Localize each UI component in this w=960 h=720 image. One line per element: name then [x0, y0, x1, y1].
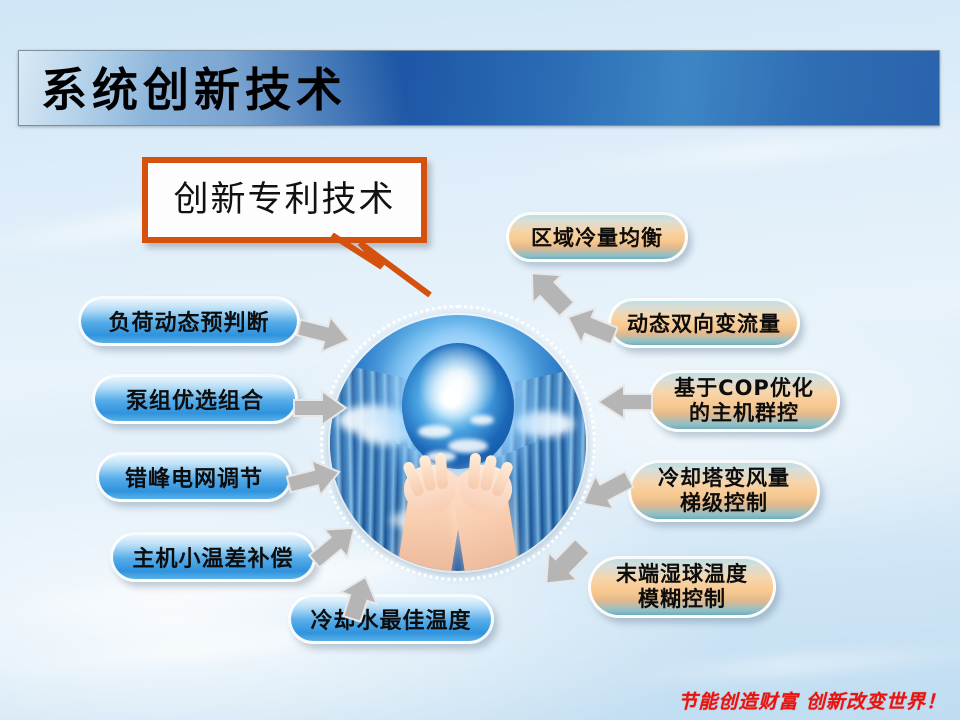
node-label: 区域冷量均衡 — [531, 222, 663, 252]
center-hub-image — [330, 315, 586, 571]
node-label: 冷却塔变风量 梯级控制 — [658, 466, 790, 516]
globe-cloud — [448, 439, 488, 453]
node-right-5[interactable]: 末端湿球温度 模糊控制 — [588, 556, 776, 618]
node-left-4[interactable]: 主机小温差补偿 — [110, 532, 316, 582]
cloud-streak — [600, 640, 960, 687]
callout-label: 创新专利技术 — [148, 163, 421, 237]
arrow-left-1-icon — [296, 312, 354, 356]
node-label: 动态双向变流量 — [627, 308, 781, 338]
title-banner: 系统创新技术 — [18, 50, 940, 126]
cloud-icon — [514, 411, 574, 437]
callout-box: 创新专利技术 — [142, 157, 427, 243]
arrow-right-4-icon — [580, 466, 634, 516]
node-label: 负荷动态预判断 — [108, 305, 269, 337]
node-left-5[interactable]: 冷却水最佳温度 — [288, 594, 494, 644]
node-label: 基于COP优化 的主机群控 — [674, 376, 814, 426]
node-label: 泵组优选组合 — [126, 383, 264, 415]
footer-slogan: 节能创造财富 创新改变世界！ — [678, 687, 946, 714]
node-right-1[interactable]: 区域冷量均衡 — [506, 212, 688, 262]
node-right-2[interactable]: 动态双向变流量 — [608, 298, 800, 348]
slide-canvas: 系统创新技术 创新专利技术 — [0, 0, 960, 720]
node-label: 主机小温差补偿 — [132, 541, 293, 573]
arrow-right-1-icon — [524, 266, 576, 318]
node-label: 错峰电网调节 — [125, 461, 263, 493]
sun-glow — [418, 333, 498, 429]
node-left-3[interactable]: 错峰电网调节 — [96, 452, 292, 502]
node-right-3[interactable]: 基于COP优化 的主机群控 — [648, 370, 840, 432]
node-left-2[interactable]: 泵组优选组合 — [92, 374, 298, 424]
node-label: 冷却水最佳温度 — [310, 603, 471, 635]
node-label: 末端湿球温度 模糊控制 — [616, 562, 748, 612]
arrow-right-3-icon — [598, 382, 654, 422]
node-left-1[interactable]: 负荷动态预判断 — [78, 296, 300, 346]
node-right-4[interactable]: 冷却塔变风量 梯级控制 — [628, 460, 820, 522]
page-title: 系统创新技术 — [41, 55, 347, 125]
